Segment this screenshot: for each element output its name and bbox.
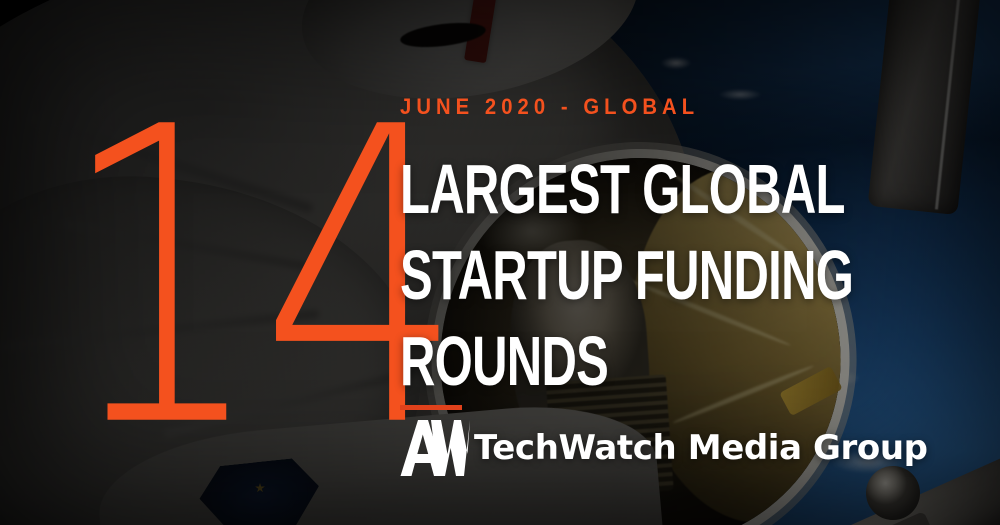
poster-canvas: 14 JUNE 2020 - GLOBAL LARGEST GLOBAL STA… [0, 0, 1000, 525]
headline-number: 14 [60, 76, 300, 484]
poster-content: 14 JUNE 2020 - GLOBAL LARGEST GLOBAL STA… [0, 0, 1000, 525]
brand-name: TechWatch Media Group [474, 428, 928, 468]
accent-divider [400, 405, 462, 410]
title-line-2: STARTUP FUNDING [400, 232, 853, 318]
title-line-1: LARGEST GLOBAL [400, 146, 853, 232]
brand-lockup: TechWatch Media Group [398, 418, 928, 478]
title-line-3: ROUNDS [400, 318, 853, 404]
kicker-label: JUNE 2020 - GLOBAL [400, 94, 699, 120]
page-title: LARGEST GLOBAL STARTUP FUNDING ROUNDS [400, 146, 853, 404]
aw-monogram-icon [398, 418, 472, 478]
